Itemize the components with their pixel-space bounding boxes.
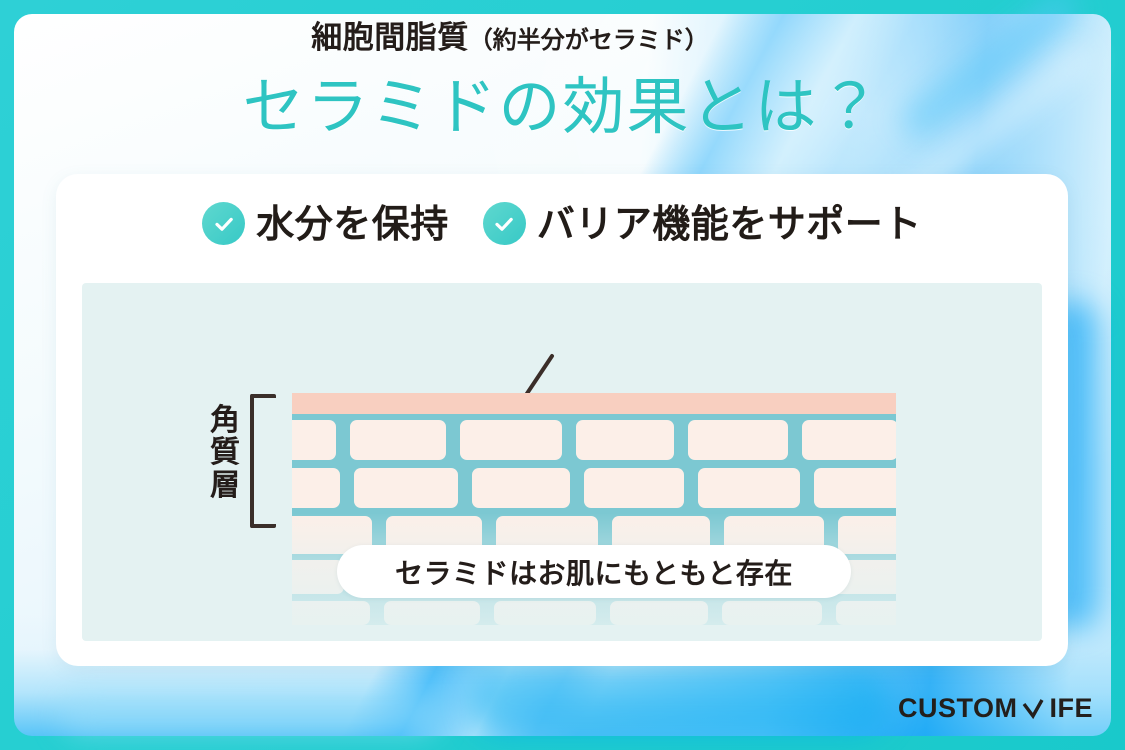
logo-word-life: IFE <box>1049 693 1093 724</box>
cell-row <box>292 601 870 625</box>
caption-pill: セラミドはお肌にもともと存在 <box>337 545 851 598</box>
benefit-label: 水分を保持 <box>256 205 449 243</box>
skin-cell <box>472 468 570 508</box>
callout-label: 細胞間脂質（約半分がセラミド） <box>160 12 860 57</box>
skin-cell <box>610 601 708 625</box>
skin-cell <box>350 420 446 460</box>
benefit-item-moisture: 水分を保持 <box>202 202 449 245</box>
cell-row <box>292 468 884 508</box>
page-title: セラミドの効果とは？ <box>0 56 1125 146</box>
benefit-label: バリア機能をサポート <box>537 205 922 243</box>
brand-logo: CUSTOM IFE <box>898 693 1093 724</box>
skin-cell <box>584 468 684 508</box>
skin-cell-diagram: セラミドはお肌にもともと存在 <box>292 393 896 625</box>
layer-label-char: 層 <box>205 470 245 502</box>
skin-cell <box>460 420 562 460</box>
skin-cell <box>576 420 674 460</box>
skin-cell <box>354 468 458 508</box>
skin-cell <box>814 468 896 508</box>
skin-cell <box>292 601 370 625</box>
skin-cell <box>838 516 896 554</box>
caption-pill-text: セラミドはお肌にもともと存在 <box>395 552 793 592</box>
skin-cell <box>292 468 340 508</box>
skin-cell <box>384 601 480 625</box>
callout-sub-text: （約半分がセラミド） <box>469 26 709 54</box>
infographic-canvas: セラミドの効果とは？ 水分を保持 バリア機能をサポート <box>0 0 1125 750</box>
cell-row <box>292 420 836 460</box>
stratum-corneum-label: 角 質 層 <box>205 405 245 502</box>
layer-bracket <box>250 394 276 528</box>
benefit-item-barrier: バリア機能をサポート <box>483 202 922 245</box>
logo-word-custom: CUSTOM <box>898 693 1018 724</box>
layer-label-char: 角 <box>205 405 245 437</box>
check-icon <box>483 202 526 245</box>
logo-check-mark <box>1020 696 1046 722</box>
check-icon <box>202 202 245 245</box>
skin-cell <box>494 601 596 625</box>
skin-cell <box>802 420 896 460</box>
skin-cell <box>688 420 788 460</box>
benefit-list: 水分を保持 バリア機能をサポート <box>56 202 1068 245</box>
skin-cell <box>722 601 822 625</box>
skin-cell <box>836 601 896 625</box>
layer-label-char: 質 <box>205 437 245 469</box>
callout-main-text: 細胞間脂質 <box>311 20 469 56</box>
skin-surface-layer <box>292 393 896 414</box>
skin-cell <box>292 560 344 594</box>
skin-cell <box>698 468 800 508</box>
skin-cell <box>292 420 336 460</box>
